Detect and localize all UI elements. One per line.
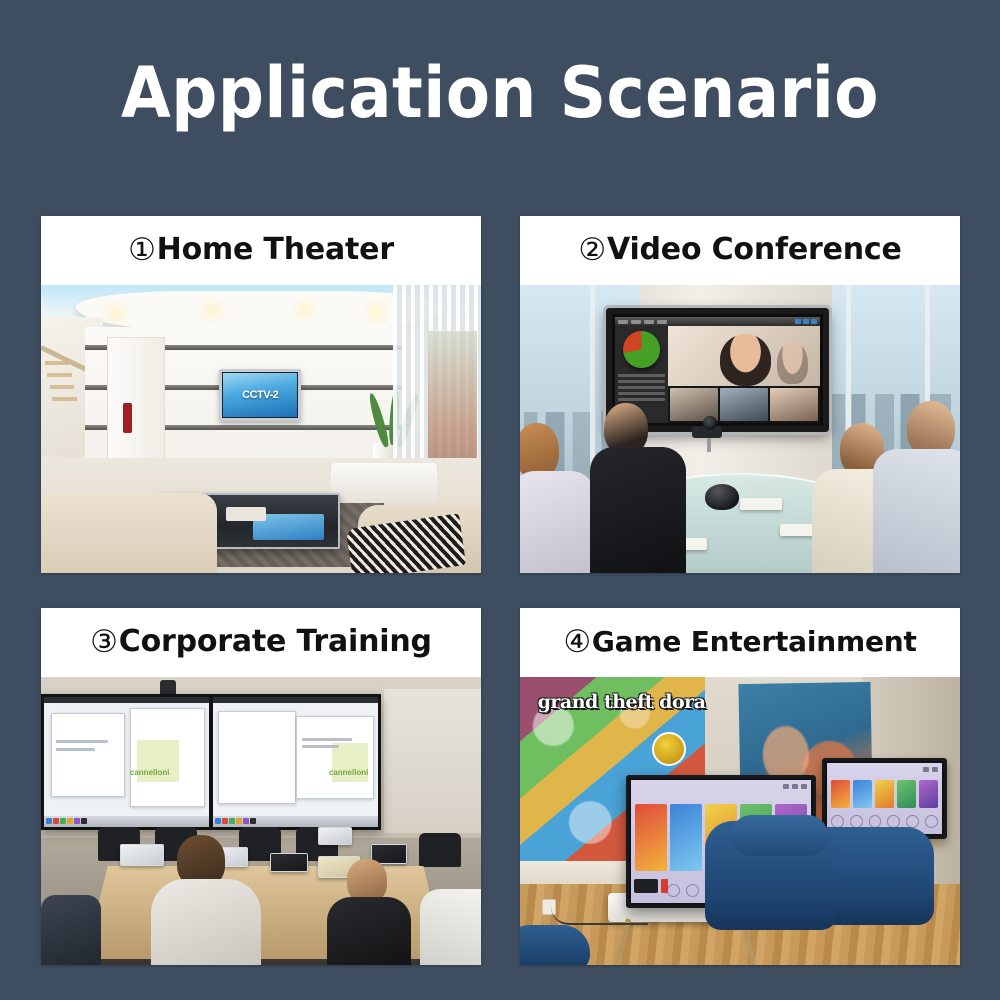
- desktop-area: cannelloni: [44, 703, 209, 827]
- dock-icon: [215, 818, 221, 824]
- thumbnail-tile: [770, 388, 818, 421]
- list-item: [618, 380, 665, 383]
- tv-channel-logo: CCTV-2: [242, 389, 278, 401]
- trainee-front: [151, 835, 261, 965]
- door-panel-accent: [123, 403, 132, 433]
- text-line: [302, 745, 338, 748]
- game-tile[interactable]: [853, 780, 872, 809]
- sectional-sofa-left: [41, 493, 217, 573]
- circled-number-1-icon: ①: [128, 232, 156, 268]
- notepad: [740, 498, 782, 510]
- downlight-icon: [301, 307, 310, 313]
- photo-home-theater: CCTV-2: [41, 285, 481, 573]
- bean-bag-backrest: [731, 815, 828, 855]
- toolbar-button-icon: [631, 320, 641, 324]
- scenario-card-grid: ①Home Theater CC: [41, 216, 960, 966]
- power-cord: [551, 907, 648, 925]
- app-window: [51, 713, 126, 797]
- card-title-corporate-training: Corporate Training: [119, 624, 432, 659]
- dock-icon: [74, 818, 80, 824]
- bean-bag-chair: [520, 925, 590, 965]
- toolbar-button-icon: [644, 320, 654, 324]
- attendee-left-back: [590, 403, 690, 573]
- game-tile[interactable]: [670, 804, 702, 871]
- serving-tray: [226, 507, 266, 521]
- dock-icon: [250, 818, 256, 824]
- list-item: [618, 392, 665, 395]
- list-item: [618, 386, 665, 389]
- scenario-card-home-theater[interactable]: ①Home Theater CC: [41, 216, 481, 573]
- wall-mounted-tv: CCTV-2: [219, 369, 301, 421]
- dock-icon: [60, 818, 66, 824]
- highlight-text: cannelloni: [329, 768, 369, 777]
- poster-title-text: grand theft dora: [538, 694, 740, 711]
- dock-icon: [236, 818, 242, 824]
- close-icon: [811, 319, 817, 324]
- poster-badge-icon: [652, 732, 686, 766]
- downlight-icon: [371, 309, 380, 315]
- card-header-game-entertainment: ④Game Entertainment: [520, 608, 960, 677]
- attendee-body: [420, 889, 481, 965]
- text-line: [56, 748, 96, 751]
- game-tile[interactable]: [897, 780, 916, 809]
- dock-icon: [67, 818, 73, 824]
- ceiling-wave-molding: [76, 291, 446, 329]
- laptop-screen: [319, 828, 351, 844]
- tv-screen: CCTV-2: [223, 373, 297, 417]
- dock-icon: [46, 818, 52, 824]
- minimize-icon: [795, 319, 801, 324]
- office-chair: [419, 833, 461, 867]
- list-item: [618, 374, 665, 377]
- game-tile-row: [831, 775, 938, 814]
- video-wall: cannelloni: [41, 694, 381, 830]
- circled-number-4-icon: ④: [563, 624, 591, 660]
- video-wall-panel: cannelloni: [213, 697, 378, 827]
- scenario-card-game-entertainment[interactable]: ④Game Entertainment grand theft dora: [520, 608, 960, 965]
- trainee-body: [151, 879, 261, 965]
- stair-step: [50, 385, 75, 389]
- power-icon[interactable]: [925, 815, 938, 828]
- laptop: [318, 827, 352, 845]
- clock-icon: [801, 784, 807, 789]
- video-area: [668, 326, 820, 423]
- white-ottoman: [331, 463, 437, 503]
- laptop-screen: [271, 854, 307, 871]
- dock-icon: [222, 818, 228, 824]
- participant-thumbnails: [668, 386, 820, 423]
- background-person: [777, 342, 807, 384]
- highlight-text: cannelloni: [130, 768, 170, 777]
- page-title: Application Scenario: [40, 58, 960, 128]
- scenario-card-corporate-training[interactable]: ③Corporate Training cannelloni: [41, 608, 481, 965]
- dock-icon: [243, 818, 249, 824]
- card-title-video-conference: Video Conference: [607, 232, 902, 267]
- attendee-body: [41, 895, 101, 965]
- text-line: [302, 738, 352, 741]
- joycon-red: [661, 879, 668, 893]
- video-wall-panel: cannelloni: [44, 697, 209, 827]
- card-header-video-conference: ②Video Conference: [520, 216, 960, 285]
- app-window: [218, 711, 296, 804]
- photo-video-conference: [520, 285, 960, 573]
- thumbnail-tile: [720, 388, 768, 421]
- speakerphone: [705, 484, 739, 510]
- trainer-body: [327, 897, 411, 965]
- game-tile[interactable]: [875, 780, 894, 809]
- game-tile[interactable]: [919, 780, 938, 809]
- attendee-right-edge: [420, 871, 481, 965]
- news-icon[interactable]: [667, 884, 680, 897]
- circled-number-3-icon: ③: [90, 624, 118, 660]
- card-header-home-theater: ①Home Theater: [41, 216, 481, 285]
- wifi-icon: [932, 767, 938, 772]
- game-tile[interactable]: [635, 804, 667, 871]
- app-toolbar: [615, 317, 820, 326]
- card-title-game-entertainment: Game Entertainment: [592, 625, 917, 658]
- card-header-corporate-training: ③Corporate Training: [41, 608, 481, 677]
- dock-icon: [53, 818, 59, 824]
- desktop-area: cannelloni: [213, 703, 378, 827]
- main-speaker-video: [668, 326, 820, 386]
- attendee-body: [590, 447, 686, 573]
- stair-step: [47, 373, 72, 377]
- attendee-body: [873, 449, 960, 573]
- wifi-icon: [792, 784, 798, 789]
- laptop: [270, 853, 308, 872]
- window-controls: [795, 319, 817, 324]
- os-dock: [44, 816, 209, 827]
- card-title-home-theater: Home Theater: [157, 232, 394, 267]
- circled-number-2-icon: ②: [578, 232, 606, 268]
- settings-icon[interactable]: [906, 815, 919, 828]
- console-dock: [634, 879, 658, 893]
- dock-icon: [81, 818, 87, 824]
- camera-lens-icon: [703, 416, 717, 430]
- photo-corporate-training: cannelloni: [41, 677, 481, 965]
- attendee-left-edge: [41, 895, 101, 965]
- maximize-icon: [803, 319, 809, 324]
- whiteboard: [384, 689, 481, 833]
- eshop-icon[interactable]: [686, 884, 699, 897]
- attendee-right-front: [869, 401, 960, 573]
- os-dock: [213, 816, 378, 827]
- trainer: [327, 859, 411, 965]
- status-bar: [831, 767, 938, 775]
- game-tile[interactable]: [831, 780, 850, 809]
- attendee-left-front: [520, 423, 601, 573]
- photo-game-entertainment: grand theft dora: [520, 677, 960, 965]
- battery-icon: [923, 767, 929, 772]
- list-item: [618, 398, 665, 401]
- speaker-portrait: [720, 334, 772, 386]
- status-bar: [635, 784, 808, 792]
- pie-chart: [623, 331, 660, 368]
- scenario-card-video-conference[interactable]: ②Video Conference: [520, 216, 960, 573]
- console-home-menu: [827, 763, 942, 834]
- stair-step: [52, 397, 77, 401]
- attendee-body: [520, 471, 595, 573]
- toolbar-button-icon: [618, 320, 628, 324]
- battery-icon: [783, 784, 789, 789]
- text-line: [56, 740, 109, 743]
- dock-icon: [229, 818, 235, 824]
- toolbar-button-icon: [657, 320, 667, 324]
